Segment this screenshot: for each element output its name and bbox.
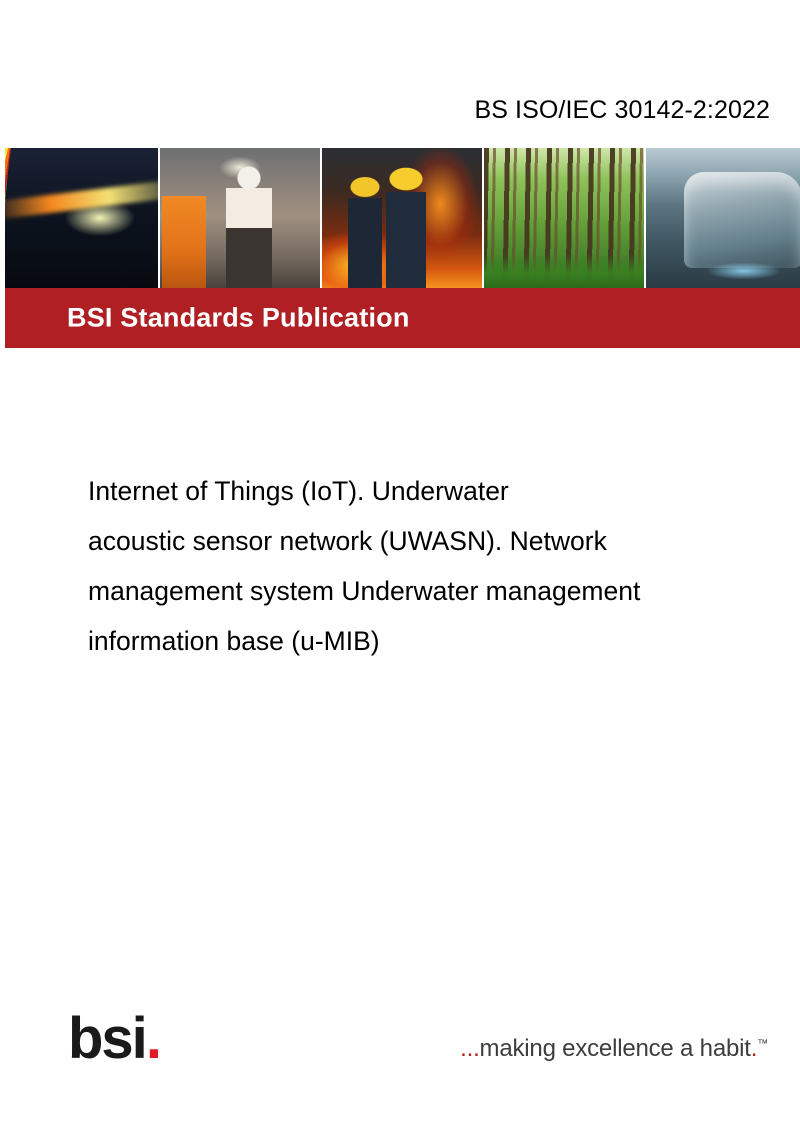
page-title: Internet of Things (IoT). Underwater aco… bbox=[88, 466, 788, 666]
title-line-2: acoustic sensor network (UWASN). Network bbox=[88, 516, 788, 566]
title-line-1: Internet of Things (IoT). Underwater bbox=[88, 466, 788, 516]
publication-banner-bar: BSI Standards Publication bbox=[5, 288, 800, 348]
bsi-logo-dot: . bbox=[146, 1006, 160, 1071]
cover-banner: BSI Standards Publication bbox=[5, 148, 800, 348]
title-line-4: information base (u-MIB) bbox=[88, 616, 788, 666]
photo-strip bbox=[5, 148, 800, 288]
banner-photo-warehouse-worker bbox=[160, 148, 320, 288]
standard-number: BS ISO/IEC 30142-2:2022 bbox=[474, 96, 770, 125]
tagline-leading-ellipsis: ... bbox=[460, 1035, 479, 1062]
tagline-text: making excellence a habit bbox=[480, 1035, 751, 1062]
bsi-tagline: ...making excellence a habit.™ bbox=[460, 1035, 768, 1063]
publication-label: BSI Standards Publication bbox=[67, 303, 410, 334]
banner-photo-forest bbox=[484, 148, 644, 288]
banner-photo-car-assembly-line bbox=[646, 148, 800, 288]
bsi-logo: bsi. bbox=[68, 1010, 160, 1068]
document-cover-page: BS ISO/IEC 30142-2:2022 BSI Standards Pu… bbox=[0, 0, 800, 1132]
banner-photo-night-traffic-light-trails bbox=[5, 148, 158, 288]
bsi-logo-wordmark: bsi bbox=[68, 1006, 146, 1071]
banner-photo-firefighters bbox=[322, 148, 482, 288]
trademark-icon: ™ bbox=[757, 1038, 768, 1050]
title-line-3: management system Underwater management bbox=[88, 566, 788, 616]
